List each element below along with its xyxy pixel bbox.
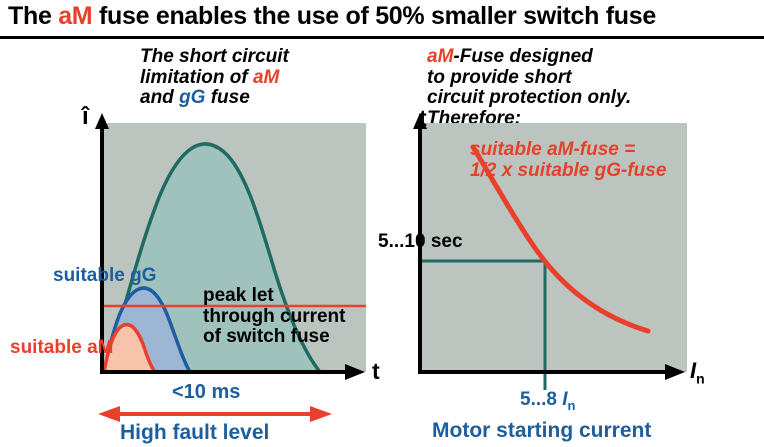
right-x-axis-label-sub: n <box>696 370 705 386</box>
marker-time: 5...10 sec <box>378 232 463 253</box>
right-y-axis-label: t <box>419 105 427 132</box>
right-x-axis-arrow <box>665 364 685 380</box>
marker-current-sub: n <box>568 398 576 413</box>
curve-am-time-current <box>473 147 648 331</box>
slide-root: The aM fuse enables the use of 50% small… <box>0 0 764 447</box>
right-x-axis-label: In <box>690 358 705 386</box>
label-motor-starting-current: Motor starting current <box>432 420 651 443</box>
right-chart-svg <box>0 0 764 447</box>
right-x-axis <box>418 370 672 374</box>
marker-current: 5...8 In <box>520 390 575 413</box>
marker-current-pre: 5...8 <box>520 389 562 410</box>
